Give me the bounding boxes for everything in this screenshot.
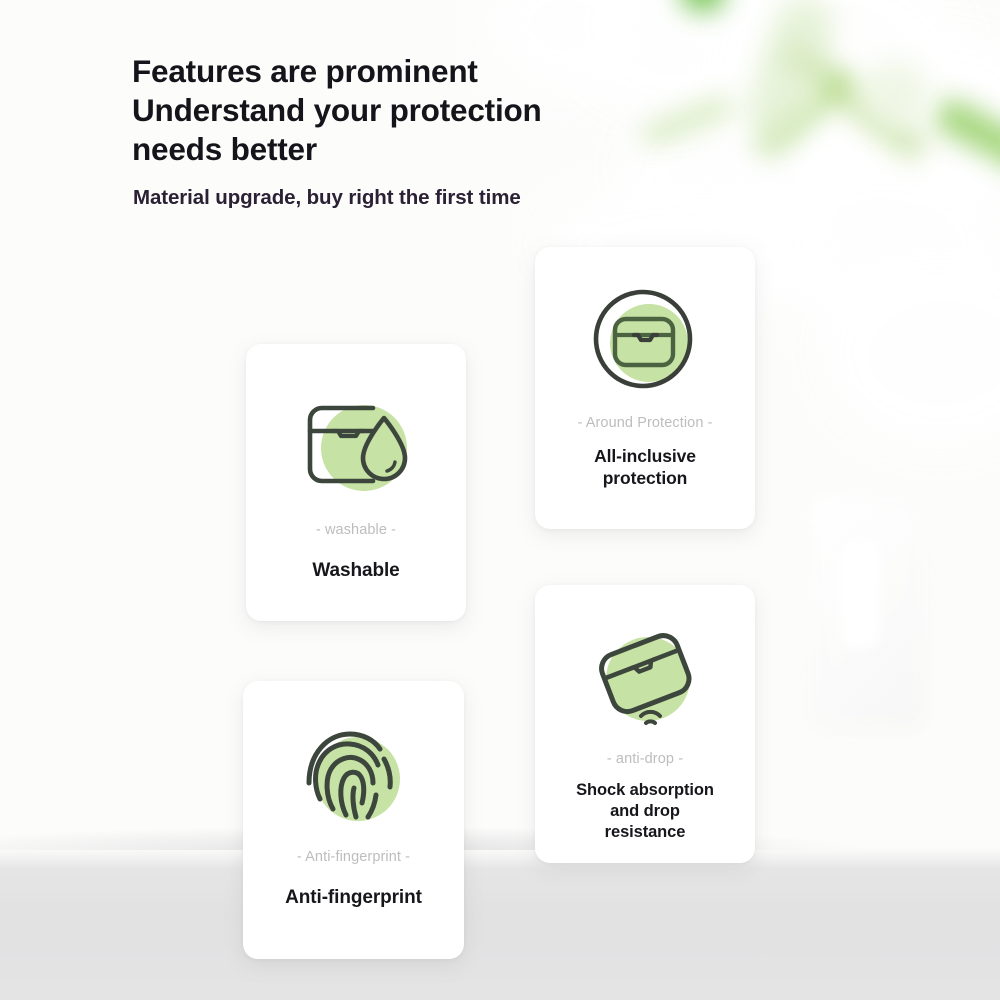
headline-line-2: Understand your protection	[132, 91, 752, 130]
fingerprint-sub-label: - Anti-fingerprint -	[297, 849, 410, 865]
tilted-case-bounce-icon	[586, 621, 704, 733]
antidrop-sub-label: - anti-drop -	[607, 751, 683, 767]
antidrop-title: Shock absorption and drop resistance	[576, 780, 714, 843]
feature-card-protection[interactable]: - Around Protection - All-inclusive prot…	[535, 247, 755, 529]
antidrop-title-line-3: resistance	[576, 822, 714, 843]
protection-title-line-2: protection	[594, 467, 696, 489]
washable-title: Washable	[312, 560, 399, 582]
protection-title: All-inclusive protection	[594, 445, 696, 489]
antidrop-title-line-2: and drop	[576, 801, 714, 822]
feature-card-fingerprint[interactable]: - Anti-fingerprint - Anti-fingerprint	[243, 681, 464, 959]
page-subtitle: Material upgrade, buy right the first ti…	[133, 186, 521, 210]
page-title: Features are prominent Understand your p…	[132, 52, 752, 169]
fingerprint-icon-wrap	[300, 725, 408, 829]
headline-line-1: Features are prominent	[132, 52, 752, 91]
protection-sub-label: - Around Protection -	[577, 415, 712, 431]
case-in-circle-protection-icon	[589, 285, 701, 397]
headline-line-3: needs better	[132, 130, 752, 169]
protection-icon-wrap	[589, 285, 701, 397]
antidrop-title-line-1: Shock absorption	[576, 780, 714, 801]
protection-title-line-1: All-inclusive	[594, 445, 696, 467]
feature-card-washable[interactable]: - washable - Washable	[246, 344, 466, 621]
case-with-water-drop-icon	[297, 396, 415, 500]
washable-sub-label: - washable -	[316, 522, 396, 538]
feature-card-antidrop[interactable]: - anti-drop - Shock absorption and drop …	[535, 585, 755, 863]
washable-icon-wrap	[297, 396, 415, 500]
antidrop-icon-wrap	[586, 621, 704, 733]
fingerprint-title: Anti-fingerprint	[285, 887, 422, 909]
fingerprint-icon	[300, 725, 408, 829]
